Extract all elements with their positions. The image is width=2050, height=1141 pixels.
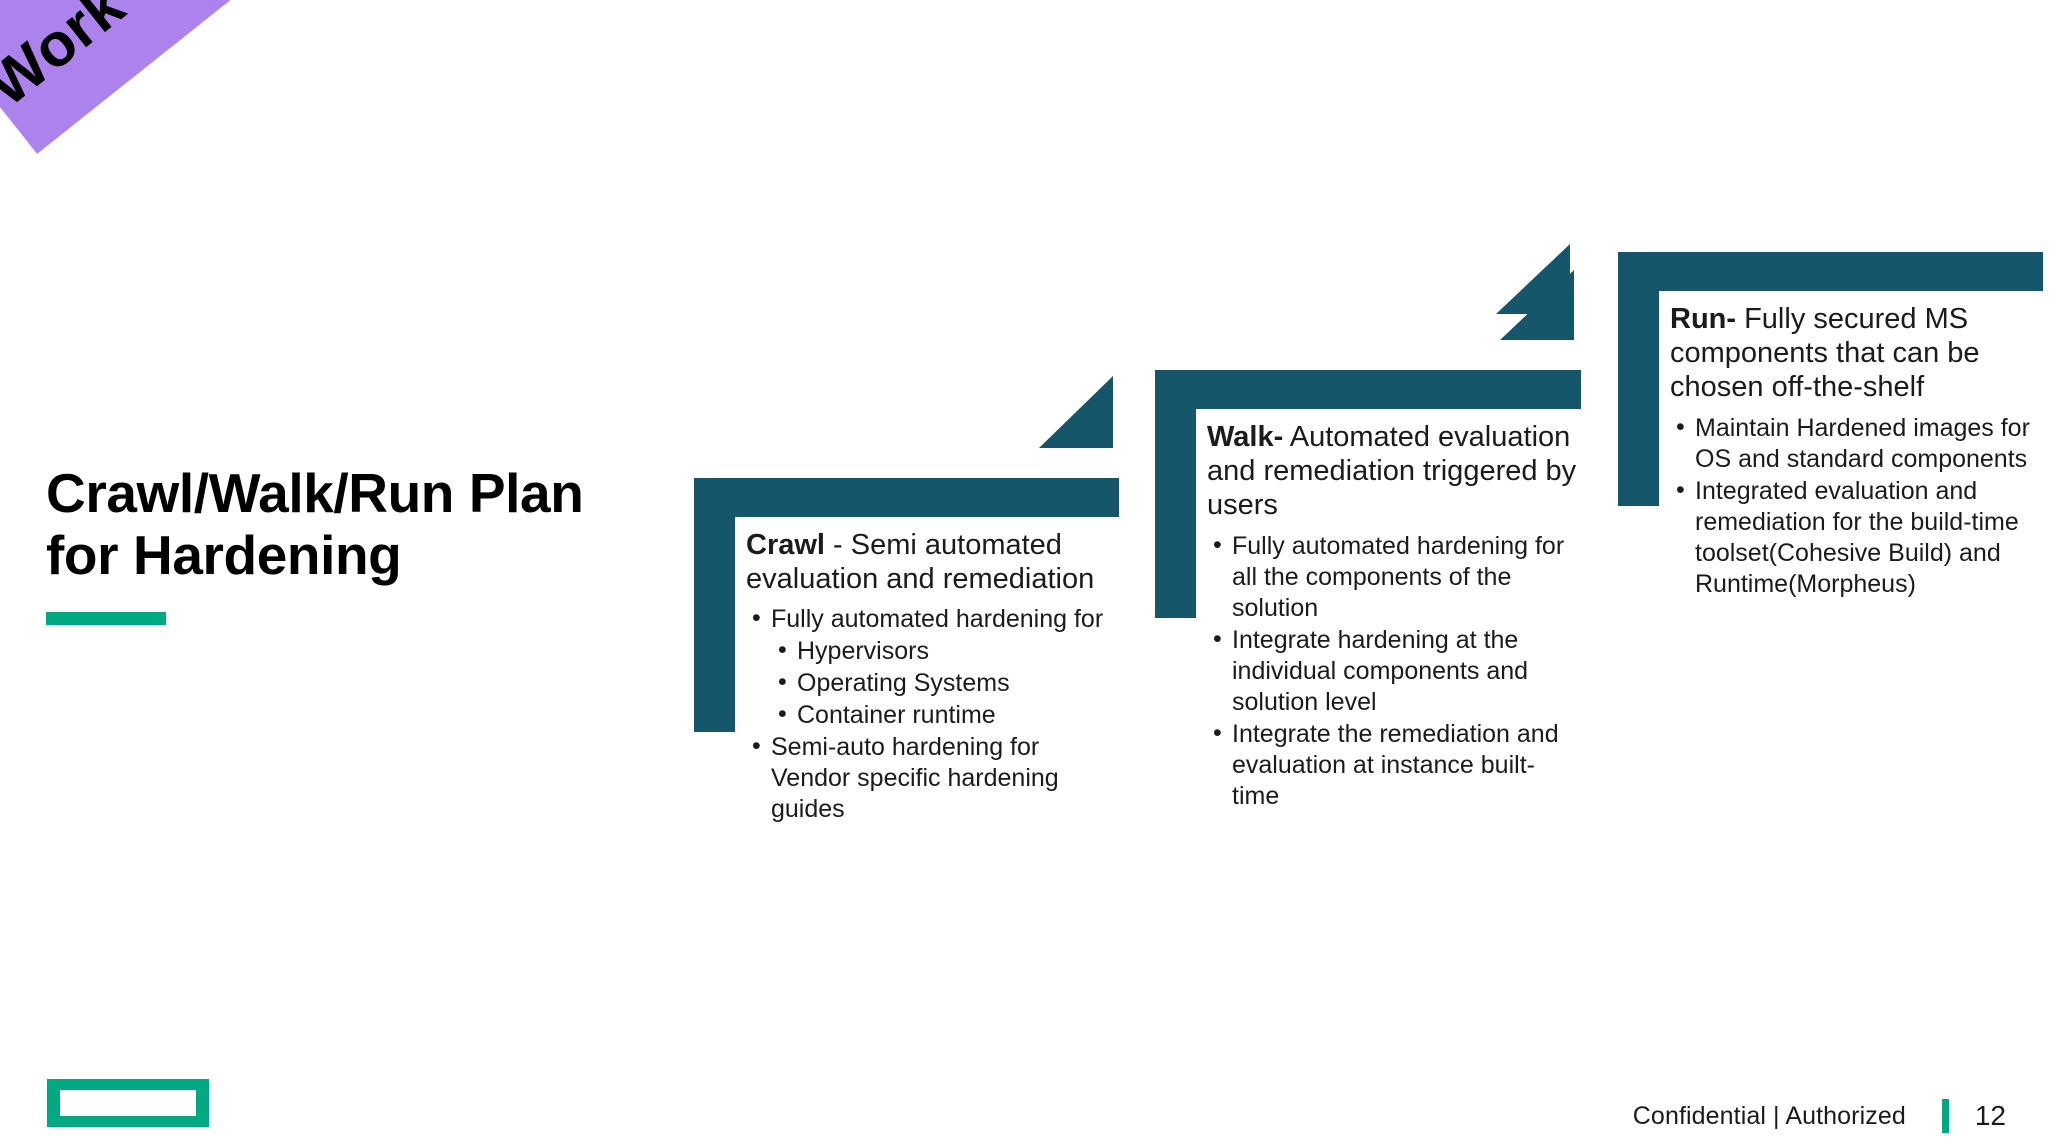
card-walk-top-bar bbox=[1155, 370, 1581, 409]
card-run: Run- Fully secured MS components that ca… bbox=[1618, 252, 2043, 586]
card-crawl-sub-list: Hypervisors Operating Systems Container … bbox=[771, 635, 1116, 731]
card-run-bullet-list: Maintain Hardened images for OS and stan… bbox=[1670, 413, 2042, 600]
card-run-triangle-decoration bbox=[1496, 244, 1570, 314]
card-crawl: Crawl - Semi automated evaluation and re… bbox=[694, 478, 1119, 818]
card-crawl-bullet-list: Fully automated hardening for Hypervisor… bbox=[746, 604, 1116, 825]
card-walk-heading-bold: Walk- bbox=[1207, 421, 1283, 453]
title-block: Crawl/Walk/Run Plan for Hardening bbox=[46, 462, 686, 625]
work-under-progress-label: Work under Progress bbox=[0, 0, 509, 120]
title-accent-bar bbox=[46, 612, 166, 625]
card-walk-bullet-list: Fully automated hardening for all the co… bbox=[1207, 531, 1579, 812]
page-title: Crawl/Walk/Run Plan for Hardening bbox=[46, 462, 686, 586]
card-crawl-heading-bold: Crawl bbox=[746, 529, 825, 561]
list-item: Integrated evaluation and remediation fo… bbox=[1670, 476, 2042, 600]
bullet-text: Fully automated hardening for bbox=[771, 605, 1103, 633]
list-item: Maintain Hardened images for OS and stan… bbox=[1670, 413, 2042, 475]
list-item: Integrate hardening at the individual co… bbox=[1207, 625, 1579, 718]
list-item: Fully automated hardening for Hypervisor… bbox=[746, 604, 1116, 731]
card-run-body: Run- Fully secured MS components that ca… bbox=[1670, 302, 2042, 601]
card-crawl-heading: Crawl - Semi automated evaluation and re… bbox=[746, 528, 1116, 596]
card-crawl-top-bar bbox=[694, 478, 1119, 517]
work-under-progress-banner: Work under Progress bbox=[0, 0, 538, 154]
card-walk-heading: Walk- Automated evaluation and remediati… bbox=[1207, 420, 1579, 523]
list-item: Semi-auto hardening for Vendor specific … bbox=[746, 732, 1116, 825]
list-item: Hypervisors bbox=[771, 635, 1116, 667]
list-item: Container runtime bbox=[771, 699, 1116, 731]
footer: Confidential | Authorized 12 bbox=[1633, 1099, 2006, 1133]
list-item: Operating Systems bbox=[771, 667, 1116, 699]
list-item: Integrate the remediation and evaluation… bbox=[1207, 719, 1579, 812]
hpe-logo bbox=[47, 1079, 209, 1127]
card-walk-body: Walk- Automated evaluation and remediati… bbox=[1207, 420, 1579, 813]
card-crawl-left-bar bbox=[694, 478, 735, 732]
list-item: Fully automated hardening for all the co… bbox=[1207, 531, 1579, 624]
page-number: 12 bbox=[1975, 1100, 2006, 1132]
card-crawl-body: Crawl - Semi automated evaluation and re… bbox=[746, 528, 1116, 826]
hpe-logo-inner-rect bbox=[60, 1090, 196, 1116]
confidentiality-label: Confidential | Authorized bbox=[1633, 1102, 1906, 1131]
slide-canvas: Work under Progress Crawl/Walk/Run Plan … bbox=[0, 0, 2050, 1141]
card-run-heading-bold: Run- bbox=[1670, 303, 1736, 335]
card-crawl-triangle-decoration bbox=[1039, 376, 1113, 448]
card-run-left-bar bbox=[1618, 252, 1659, 506]
card-run-heading: Run- Fully secured MS components that ca… bbox=[1670, 302, 2042, 405]
card-run-top-bar bbox=[1618, 252, 2043, 291]
footer-divider bbox=[1942, 1099, 1949, 1133]
card-walk: Walk- Automated evaluation and remediati… bbox=[1155, 370, 1581, 730]
card-walk-left-bar bbox=[1155, 370, 1196, 618]
